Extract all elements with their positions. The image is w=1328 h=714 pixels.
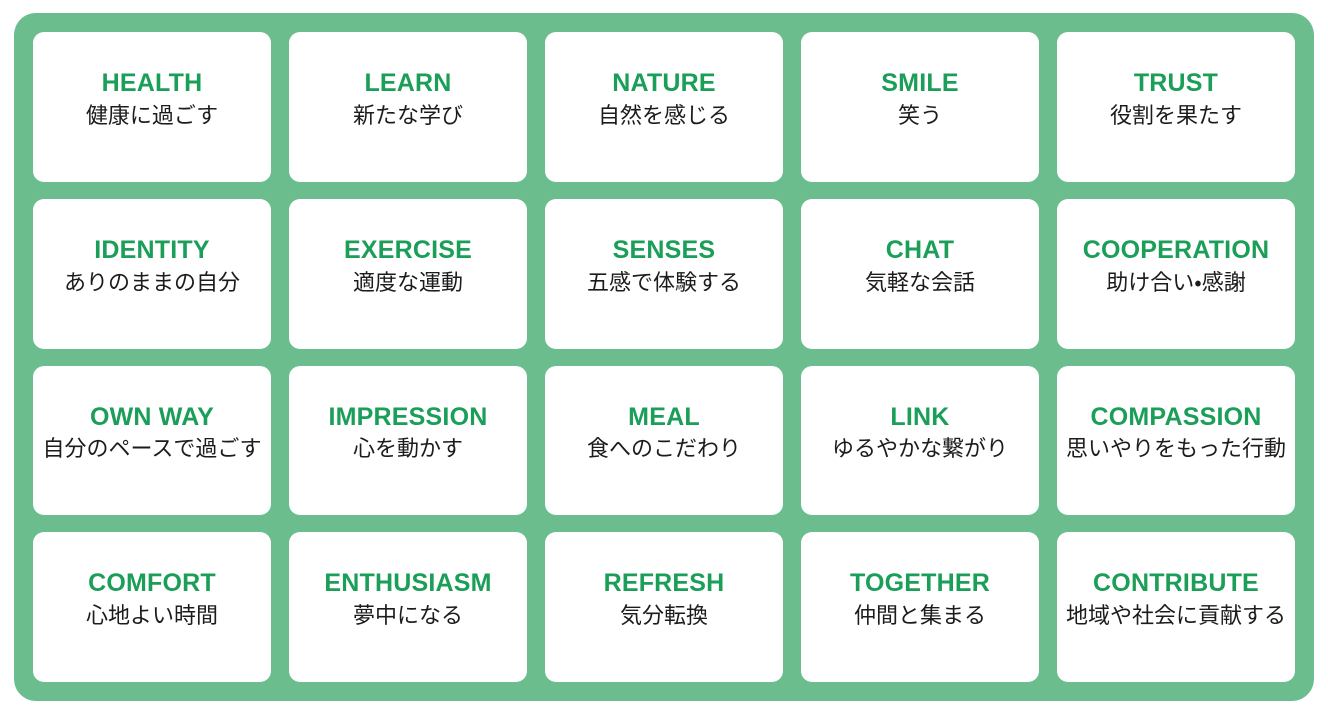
value-card-title: TRUST [1134,69,1218,98]
value-card[interactable]: LINKゆるやかな繋がり [801,366,1039,516]
value-card-subtitle: 自分のペースで過ごす [42,434,261,464]
value-card[interactable]: SMILE笑う [801,32,1039,182]
value-card-subtitle: 夢中になる [353,601,463,631]
value-card[interactable]: HEALTH健康に過ごす [33,32,271,182]
value-card-title: COOPERATION [1083,236,1269,265]
value-card-subtitle: 心を動かす [353,434,463,464]
value-card-subtitle: 役割を果たす [1110,101,1242,131]
value-card-title: HEALTH [102,69,203,98]
value-card-subtitle: 自然を感じる [598,101,730,131]
value-card-title: SMILE [881,69,958,98]
value-card[interactable]: COMPASSION思いやりをもった行動 [1057,366,1295,516]
value-card-title: TOGETHER [850,569,990,598]
value-card-subtitle: ゆるやかな繋がり [832,434,1008,464]
value-card[interactable]: REFRESH気分転換 [545,532,783,682]
value-card-title: LEARN [364,69,451,98]
value-card[interactable]: CONTRIBUTE地域や社会に貢献する [1057,532,1295,682]
value-card-subtitle: 仲間と集まる [854,601,986,631]
value-card-subtitle: 地域や社会に貢献する [1066,601,1286,631]
value-card-subtitle: 新たな学び [353,101,463,131]
value-card-subtitle: 五感で体験する [587,268,741,298]
value-card-title: COMPASSION [1091,403,1262,432]
value-card-subtitle: 心地よい時間 [86,601,218,631]
value-card-title: CONTRIBUTE [1093,569,1259,598]
value-card-board: HEALTH健康に過ごすLEARN新たな学びNATURE自然を感じるSMILE笑… [14,13,1314,701]
value-card[interactable]: TRUST役割を果たす [1057,32,1295,182]
value-card-title: OWN WAY [90,403,214,432]
value-card[interactable]: OWN WAY自分のペースで過ごす [33,366,271,516]
value-card-title: LINK [890,403,949,432]
value-card-subtitle: 食へのこだわり [587,434,741,464]
value-card[interactable]: COMFORT心地よい時間 [33,532,271,682]
value-card-title: CHAT [886,236,954,265]
value-card-subtitle: 笑う [898,101,942,131]
value-card-subtitle: ありのままの自分 [64,268,240,298]
value-card-title: NATURE [612,69,716,98]
value-card-subtitle: 助け合い・感謝 [1106,268,1245,298]
value-card[interactable]: TOGETHER仲間と集まる [801,532,1039,682]
value-card-title: COMFORT [88,569,216,598]
value-card-subtitle: 思いやりをもった行動 [1066,434,1286,464]
value-card-subtitle: 気軽な会話 [865,268,975,298]
value-card-title: IDENTITY [94,236,210,265]
value-card[interactable]: MEAL食へのこだわり [545,366,783,516]
value-card-title: ENTHUSIASM [324,569,491,598]
value-card[interactable]: EXERCISE適度な運動 [289,199,527,349]
value-card-subtitle: 健康に過ごす [86,101,218,131]
value-card-title: MEAL [628,403,700,432]
value-card[interactable]: IMPRESSION心を動かす [289,366,527,516]
value-card[interactable]: LEARN新たな学び [289,32,527,182]
value-card[interactable]: CHAT気軽な会話 [801,199,1039,349]
value-card-title: IMPRESSION [329,403,488,432]
value-card-title: SENSES [613,236,716,265]
value-card-title: REFRESH [604,569,725,598]
value-card-subtitle: 気分転換 [620,601,708,631]
value-card-subtitle: 適度な運動 [353,268,463,298]
value-card[interactable]: COOPERATION助け合い・感謝 [1057,199,1295,349]
value-card[interactable]: NATURE自然を感じる [545,32,783,182]
value-card[interactable]: IDENTITYありのままの自分 [33,199,271,349]
value-card-title: EXERCISE [344,236,472,265]
value-card[interactable]: ENTHUSIASM夢中になる [289,532,527,682]
value-card[interactable]: SENSES五感で体験する [545,199,783,349]
